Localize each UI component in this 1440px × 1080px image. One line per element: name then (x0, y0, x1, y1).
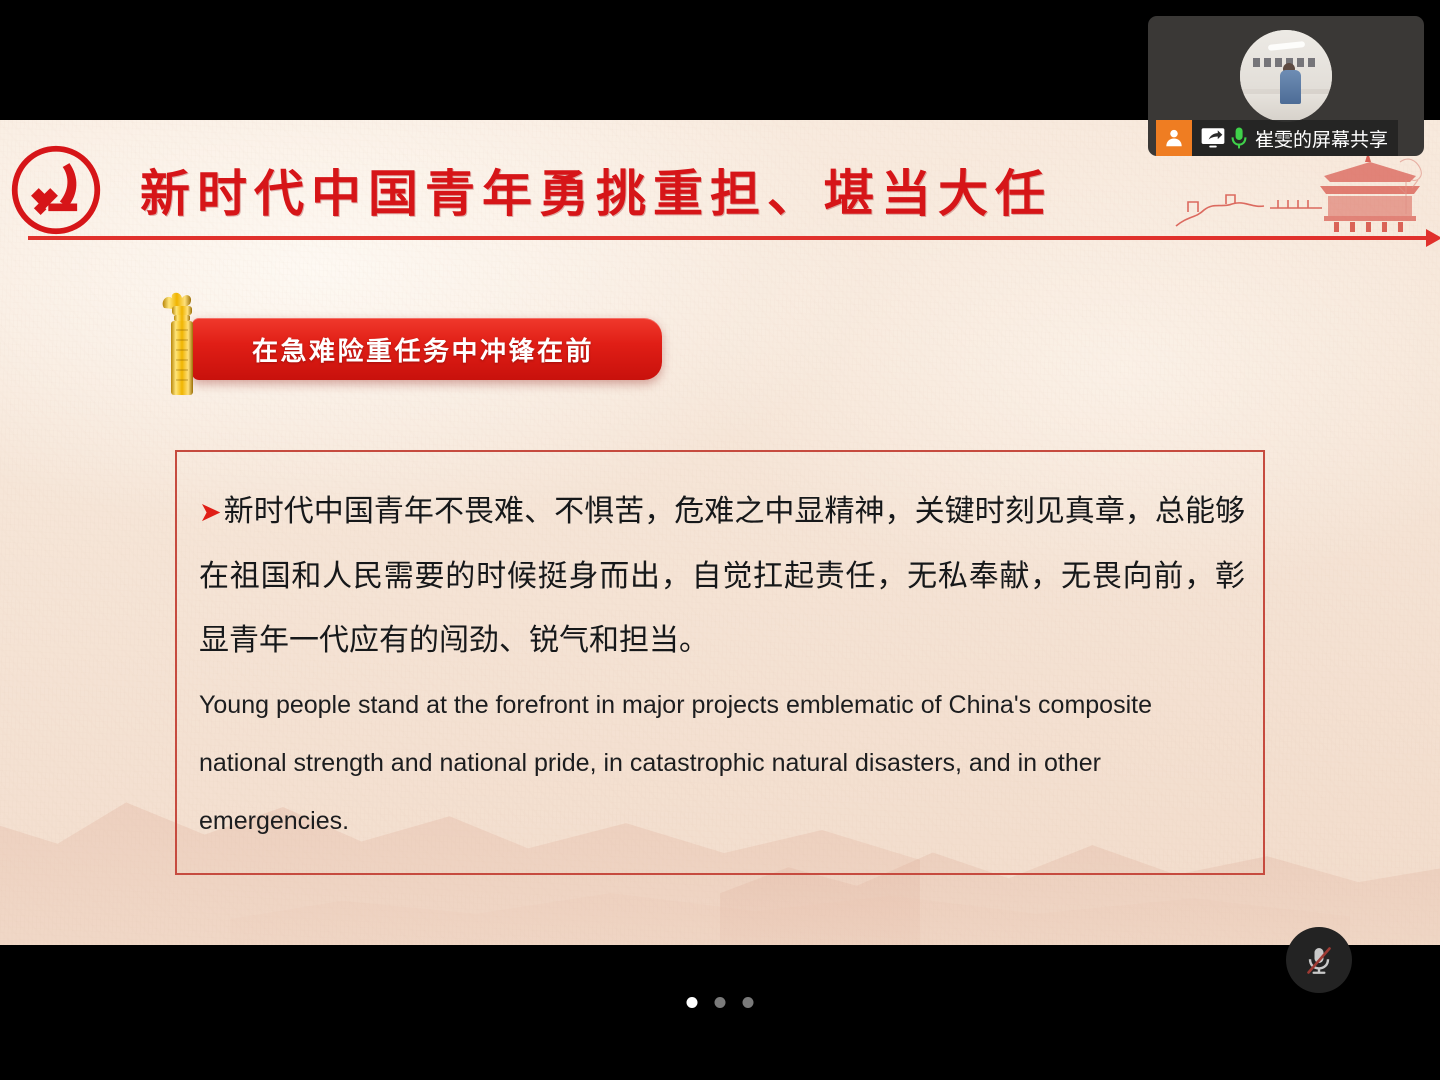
page-dot-1[interactable] (687, 997, 698, 1008)
page-title: 新时代中国青年勇挑重担、堪当大任 (140, 146, 1100, 234)
great-wall-tiananmen-icon (1174, 142, 1424, 238)
golden-scroll-pillar-icon (160, 290, 206, 400)
mute-toggle-button[interactable] (1286, 927, 1352, 993)
screen-share-viewer: 新时代中国青年勇挑重担、堪当大任 (0, 0, 1440, 1080)
presentation-slide: 新时代中国青年勇挑重担、堪当大任 (0, 120, 1440, 945)
bottom-toolbar (0, 945, 1440, 1080)
avatar (1240, 30, 1332, 122)
banner-label: 在急难险重任务中冲锋在前 (252, 331, 594, 368)
screen-share-label: 崔雯的屏幕共享 (1255, 125, 1398, 152)
microphone-icon (1230, 126, 1248, 150)
banner-plate: 在急难险重任务中冲锋在前 (192, 318, 662, 380)
section-banner: 在急难险重任务中冲锋在前 (160, 290, 680, 400)
page-dot-3[interactable] (743, 997, 754, 1008)
content-box: ➤新时代中国青年不畏难、不惧苦，危难之中显精神，关键时刻见真章，总能够在祖国和人… (175, 450, 1265, 875)
chinese-paragraph: ➤新时代中国青年不畏难、不惧苦，危难之中显精神，关键时刻见真章，总能够在祖国和人… (199, 480, 1245, 673)
screen-share-icon (1200, 125, 1226, 151)
red-arrow-bullet-icon: ➤ (199, 497, 222, 528)
avatar-body (1280, 70, 1300, 103)
screen-share-status-bar: 崔雯的屏幕共享 (1156, 120, 1398, 156)
microphone-muted-icon (1302, 943, 1336, 977)
page-indicator[interactable] (687, 997, 754, 1008)
page-dot-2[interactable] (715, 997, 726, 1008)
participant-video-thumbnail[interactable]: 崔雯的屏幕共享 (1148, 16, 1424, 156)
chinese-paragraph-text: 新时代中国青年不畏难、不惧苦，危难之中显精神，关键时刻见真章，总能够在祖国和人民… (199, 494, 1245, 658)
english-paragraph: Young people stand at the forefront in m… (199, 676, 1245, 850)
cpc-emblem-icon (8, 142, 104, 238)
person-icon (1156, 120, 1192, 156)
